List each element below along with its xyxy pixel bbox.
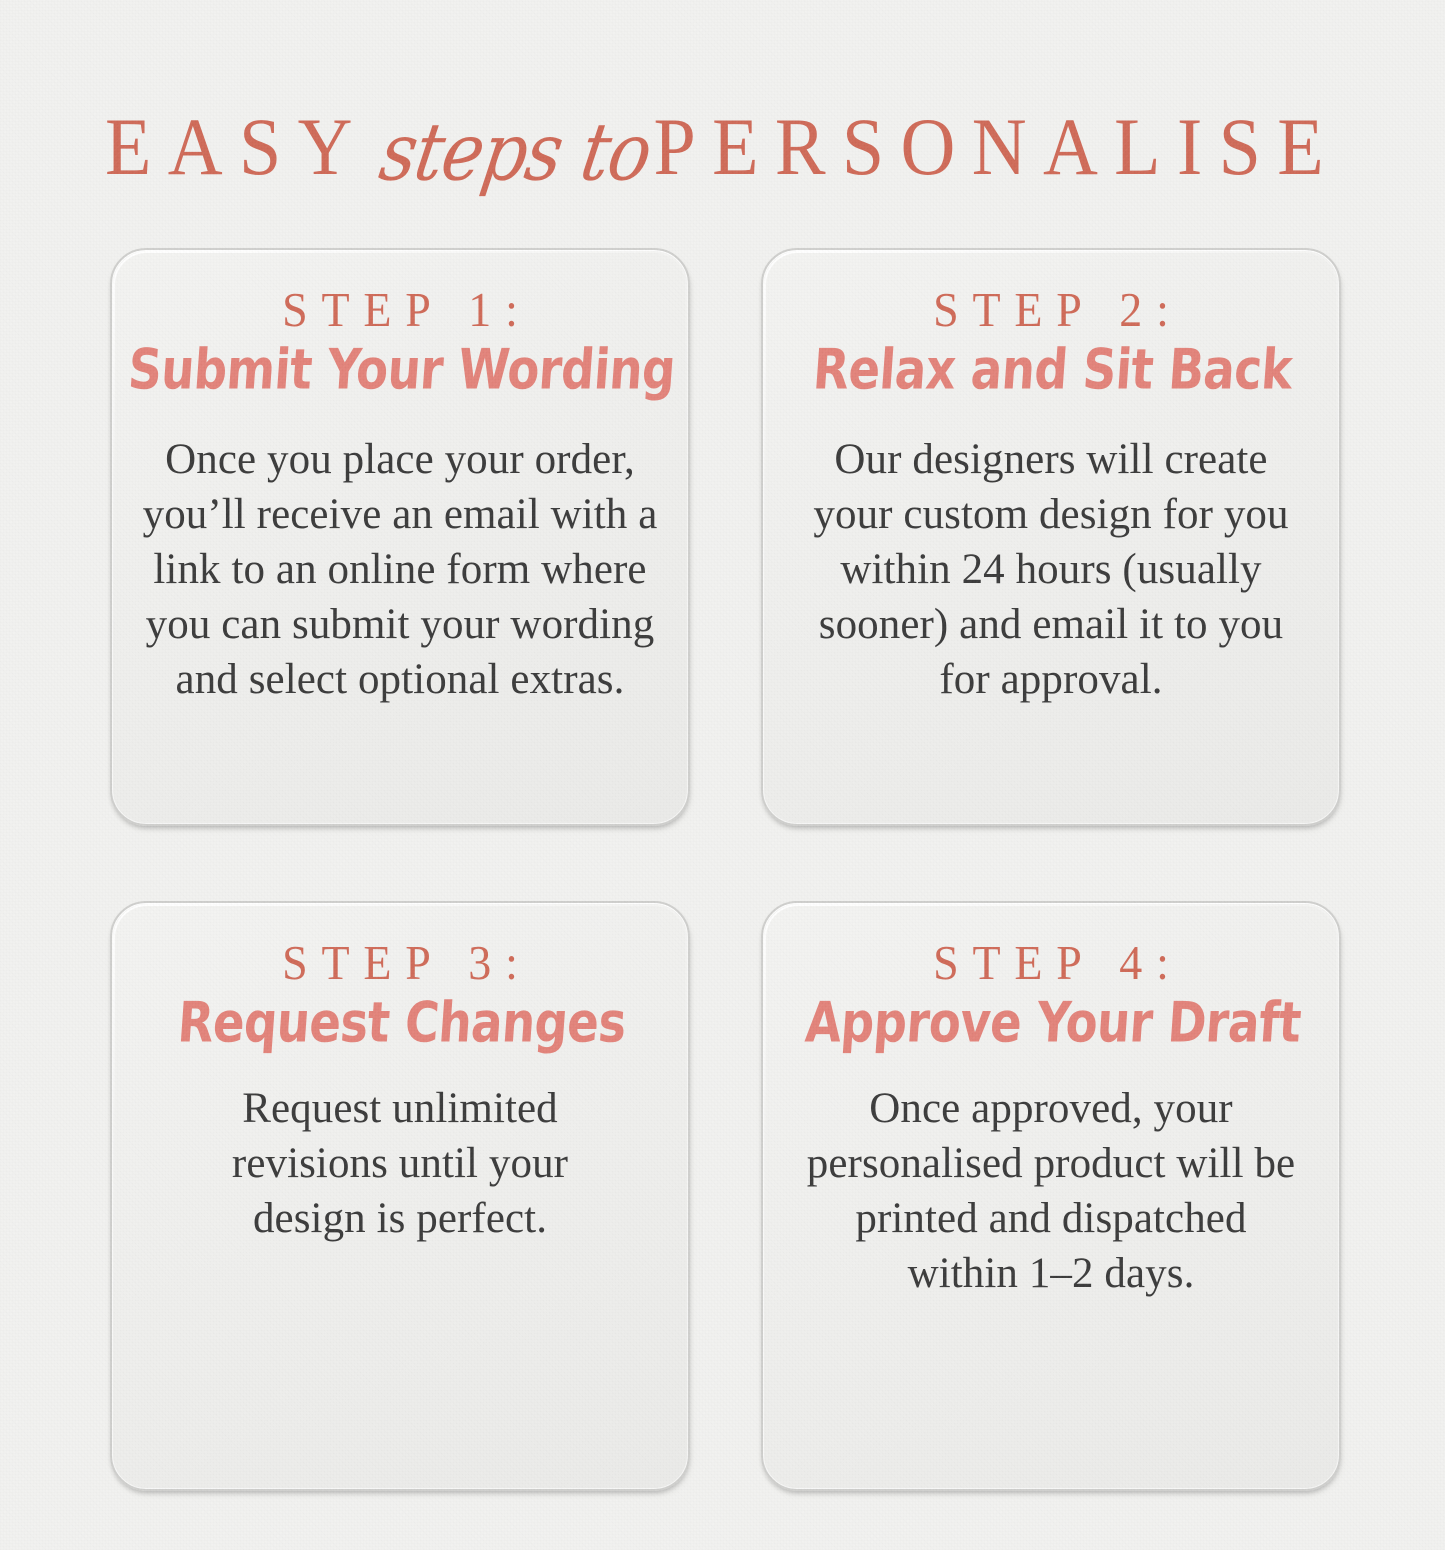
step-2-body: Our designers will create your custom de… xyxy=(807,432,1295,707)
step-4-label: STEP 4: xyxy=(919,938,1182,989)
step-1-label: STEP 1: xyxy=(268,285,531,336)
step-3-body: Request unlimited revisions until your d… xyxy=(201,1081,599,1246)
page-title-script-steps-to: steps to xyxy=(375,112,656,192)
step-3-title: Request Changes xyxy=(176,996,628,1052)
step-card-2: STEP 2: Relax and Sit Back Our designers… xyxy=(761,248,1341,826)
step-2-label: STEP 2: xyxy=(919,285,1182,336)
page-title-word-personalise: PERSONALISE xyxy=(654,106,1340,188)
step-card-1: STEP 1: Submit Your Wording Once you pla… xyxy=(110,248,690,826)
step-2-title: Relax and Sit Back xyxy=(812,343,1294,399)
step-1-body: Once you place your order, you’ll receiv… xyxy=(142,432,658,707)
step-card-4: STEP 4: Approve Your Draft Once approved… xyxy=(761,901,1341,1491)
step-card-3: STEP 3: Request Changes Request unlimite… xyxy=(110,901,690,1491)
page-title-word-easy: EASY xyxy=(105,106,369,188)
step-3-label: STEP 3: xyxy=(268,938,531,989)
steps-grid: STEP 1: Submit Your Wording Once you pla… xyxy=(110,248,1341,1491)
page-title: EASY steps to PERSONALISE xyxy=(0,112,1445,208)
step-1-title: Submit Your Wording xyxy=(127,343,677,399)
step-4-title: Approve Your Draft xyxy=(803,996,1302,1052)
step-4-body: Once approved, your personalised product… xyxy=(796,1081,1306,1301)
